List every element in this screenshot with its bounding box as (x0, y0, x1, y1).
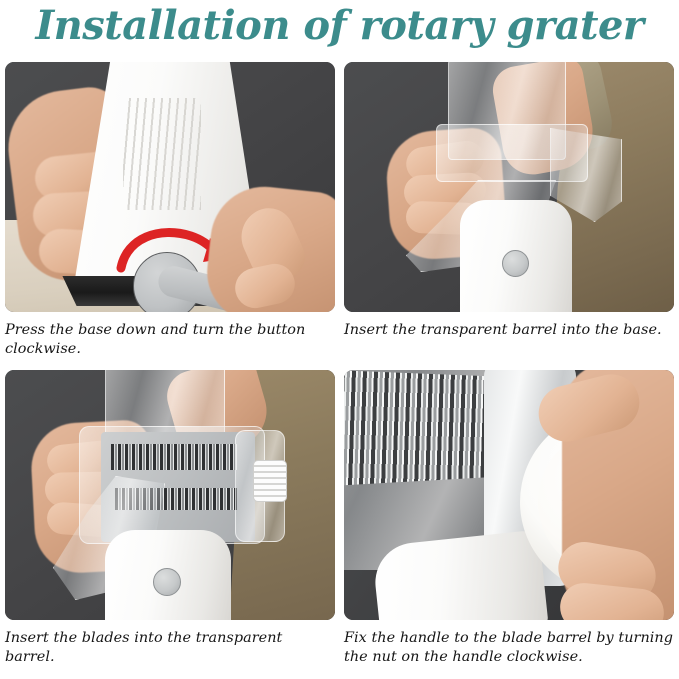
step-4-photo (344, 370, 674, 620)
step-card-1: Press the base down and turn the button … (5, 62, 335, 368)
step-1-photo (5, 62, 335, 312)
step-3-caption: Insert the blades into the transparent b… (5, 629, 335, 667)
step-card-3: Insert the blades into the transparent b… (5, 370, 335, 676)
step-1-caption: Press the base down and turn the button … (5, 321, 335, 359)
step-3-photo (5, 370, 335, 620)
blade-teeth-row (111, 444, 237, 470)
page-title: Installation of rotary grater (0, 0, 679, 56)
step-4-caption: Fix the handle to the blade barrel by tu… (344, 629, 674, 667)
step-2-caption: Insert the transparent barrel into the b… (344, 321, 674, 340)
release-button (153, 568, 181, 596)
step-card-2: Insert the transparent barrel into the b… (344, 62, 674, 368)
steps-grid: Press the base down and turn the button … (5, 62, 674, 674)
drum-gear (253, 460, 287, 502)
step-2-photo (344, 62, 674, 312)
release-button (502, 250, 529, 277)
body-ribs (123, 98, 201, 210)
step-card-4: Fix the handle to the blade barrel by tu… (344, 370, 674, 676)
instruction-infographic: Installation of rotary grater (0, 0, 679, 679)
